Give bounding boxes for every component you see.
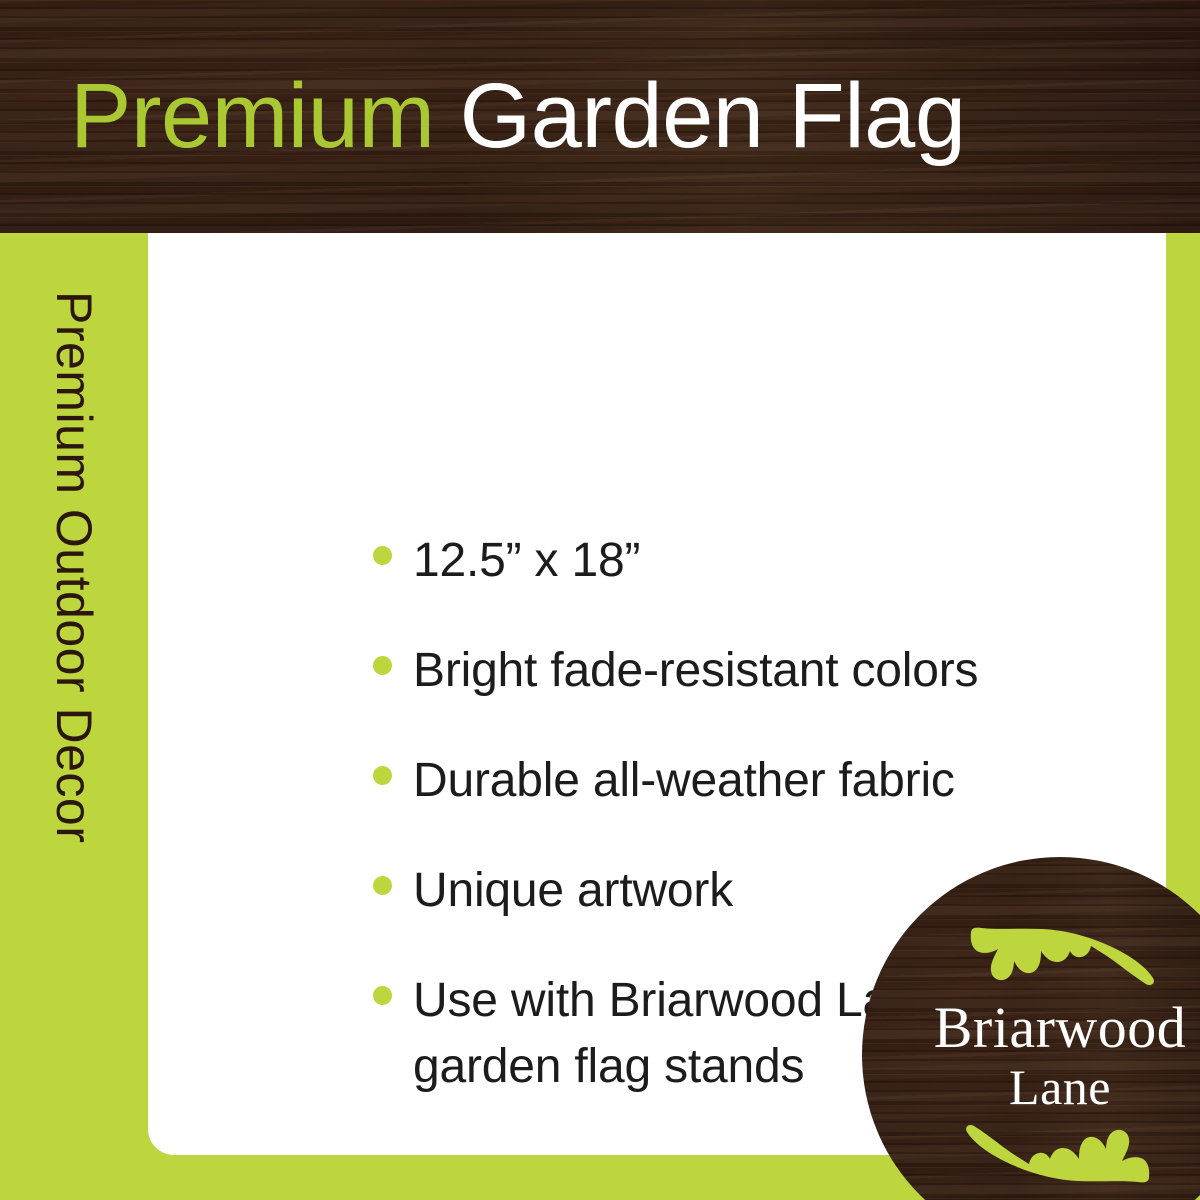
brand-wordmark: Briarwood Lane	[934, 997, 1187, 1115]
side-rail	[0, 233, 148, 1200]
brand-wordmark-line2: Lane	[934, 1059, 1187, 1115]
list-item: 12.5” x 18”	[373, 528, 1133, 594]
list-item-label: Bright fade-resistant colors	[413, 638, 978, 704]
bullet-dot-icon	[373, 656, 392, 675]
list-item-label: Unique artwork	[413, 858, 733, 924]
oak-leaf-icon	[960, 1117, 1160, 1183]
bullet-dot-icon	[373, 876, 392, 895]
bullet-dot-icon	[373, 546, 392, 565]
oak-leaf-icon	[960, 927, 1160, 993]
page-title-plain: Garden Flag	[460, 65, 966, 167]
brand-wordmark-line1: Briarwood	[934, 997, 1187, 1059]
list-item-label: 12.5” x 18”	[413, 528, 640, 594]
product-feature-poster: Premium Garden Flag 12.5” x 18” Bright f…	[0, 0, 1200, 1200]
bullet-dot-icon	[373, 766, 392, 785]
page-title: Premium Garden Flag	[70, 60, 1160, 172]
page-title-accent: Premium	[70, 65, 435, 167]
list-item: Durable all-weather fabric	[373, 748, 1133, 814]
bullet-dot-icon	[373, 986, 392, 1005]
header-banner: Premium Garden Flag	[0, 0, 1200, 233]
list-item-label: Durable all-weather fabric	[413, 748, 955, 814]
list-item: Bright fade-resistant colors	[373, 638, 1133, 704]
brand-logo-badge: Briarwood Lane	[862, 857, 1200, 1200]
